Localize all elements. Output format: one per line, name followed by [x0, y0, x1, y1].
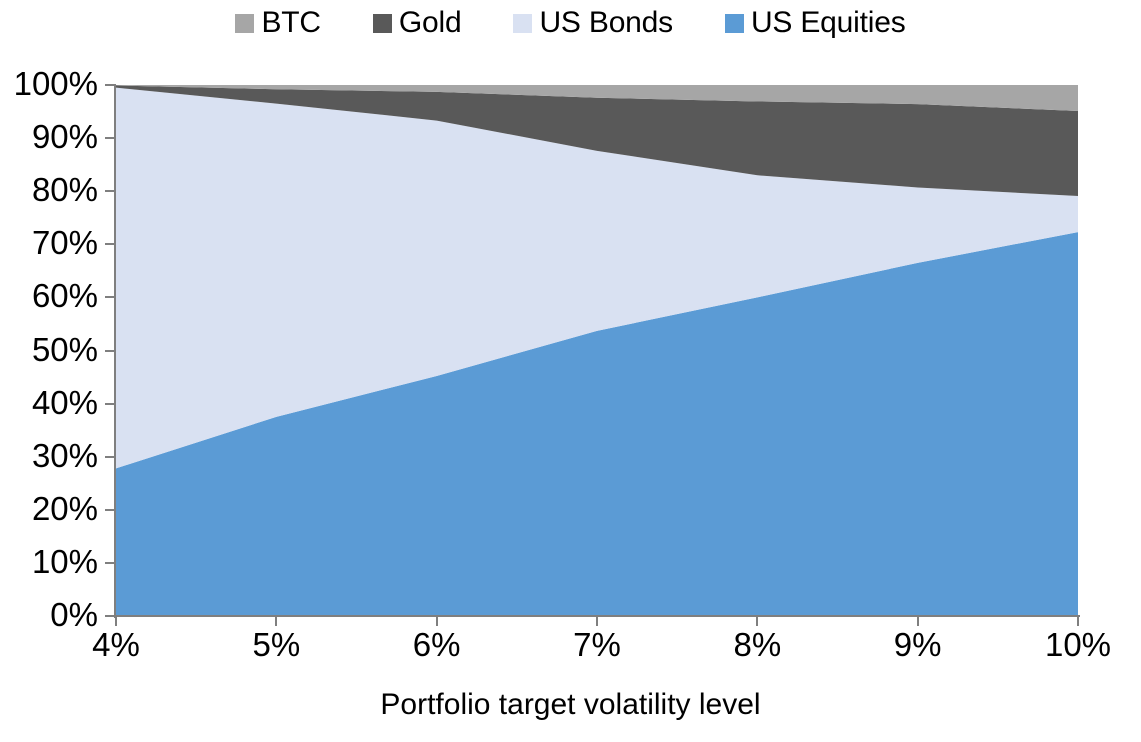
y-tick — [105, 190, 114, 192]
plot-area — [116, 85, 1078, 616]
x-tick — [115, 617, 117, 626]
y-tick — [105, 350, 114, 352]
legend-swatch-us-equities — [725, 14, 744, 33]
y-axis-label: 90% — [0, 120, 98, 153]
legend-swatch-btc — [235, 14, 254, 33]
x-axis-label: 6% — [377, 628, 497, 661]
stacked-area-chart: BTC Gold US Bonds US Equities 100%90%80%… — [0, 0, 1141, 742]
x-tick — [436, 617, 438, 626]
legend-item-us-equities[interactable]: US Equities — [725, 8, 906, 38]
y-tick — [105, 243, 114, 245]
legend-swatch-us-bonds — [513, 14, 532, 33]
legend-swatch-gold — [373, 14, 392, 33]
y-axis-label: 60% — [0, 279, 98, 312]
y-tick — [105, 137, 114, 139]
x-tick — [275, 617, 277, 626]
x-axis-label: 8% — [697, 628, 817, 661]
y-tick — [105, 403, 114, 405]
x-tick — [1077, 617, 1079, 626]
x-tick — [596, 617, 598, 626]
x-tick — [917, 617, 919, 626]
y-tick — [105, 562, 114, 564]
y-axis-label: 50% — [0, 333, 98, 366]
chart-legend: BTC Gold US Bonds US Equities — [0, 8, 1141, 38]
y-axis-label: 30% — [0, 439, 98, 472]
legend-label-btc: BTC — [261, 8, 320, 38]
legend-item-btc[interactable]: BTC — [235, 8, 320, 38]
x-axis-label: 9% — [858, 628, 978, 661]
y-axis-label: 20% — [0, 492, 98, 525]
legend-label-us-equities: US Equities — [751, 8, 906, 38]
y-axis-label: 40% — [0, 386, 98, 419]
y-tick — [105, 615, 114, 617]
x-axis-label: 4% — [56, 628, 176, 661]
y-tick — [105, 509, 114, 511]
y-tick — [105, 296, 114, 298]
y-axis-label: 10% — [0, 545, 98, 578]
x-axis-label: 10% — [1018, 628, 1138, 661]
x-tick — [756, 617, 758, 626]
x-axis-label: 7% — [537, 628, 657, 661]
legend-item-us-bonds[interactable]: US Bonds — [513, 8, 672, 38]
y-axis-label: 100% — [0, 67, 98, 100]
y-tick — [105, 84, 114, 86]
y-axis-line — [114, 84, 116, 618]
x-axis-title: Portfolio target volatility level — [0, 690, 1141, 720]
legend-item-gold[interactable]: Gold — [373, 8, 462, 38]
y-axis-label: 0% — [0, 598, 98, 631]
y-tick — [105, 456, 114, 458]
legend-label-us-bonds: US Bonds — [539, 8, 672, 38]
legend-label-gold: Gold — [399, 8, 462, 38]
y-axis-label: 70% — [0, 226, 98, 259]
x-axis-label: 5% — [216, 628, 336, 661]
y-axis-label: 80% — [0, 173, 98, 206]
area-series-group — [116, 85, 1078, 616]
